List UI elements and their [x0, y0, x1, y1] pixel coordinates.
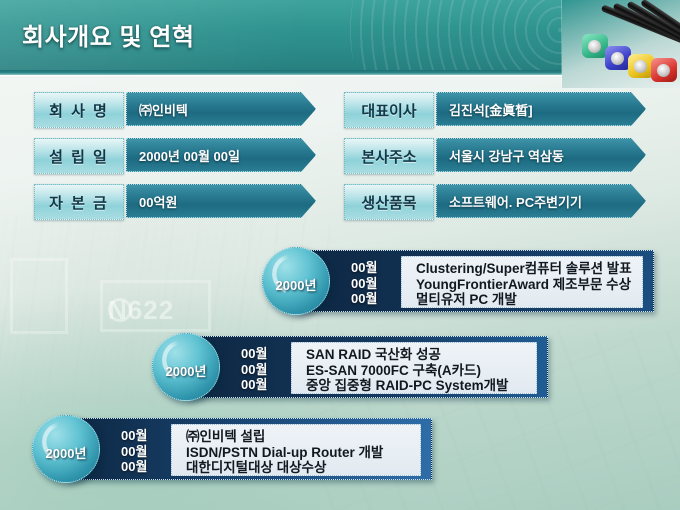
timeline-events: Clustering/Super컴퓨터 솔루션 발표 YoungFrontier…	[401, 256, 643, 308]
timeline-year-badge: 2000년	[262, 247, 330, 315]
timeline-block: 00월 00월 00월 SAN RAID 국산화 성공 ES-SAN 7000F…	[152, 336, 544, 398]
timeline-months: 00월 00월 00월	[351, 260, 377, 307]
timeline-event: 중앙 집중형 RAID-PC System개발	[306, 378, 536, 394]
cable-ring-blue	[611, 52, 624, 65]
info-label-ceo: 대표이사	[344, 92, 434, 128]
timeline-months: 00월 00월 00월	[121, 428, 147, 475]
page-title: 회사개요 및 연혁	[22, 17, 194, 52]
timeline-month: 00월	[121, 459, 147, 475]
timeline-panel: 00월 00월 00월 SAN RAID 국산화 성공 ES-SAN 7000F…	[186, 336, 548, 398]
timeline-year-badge: 2000년	[152, 333, 220, 401]
info-row: 회 사 명 ㈜인비텍 대표이사 김진석[金眞晳]	[34, 92, 646, 126]
info-value-capital: 00억원	[126, 184, 316, 218]
cable-plug-red	[651, 58, 677, 82]
timeline-month: 00월	[241, 377, 267, 393]
timeline-events: SAN RAID 국산화 성공 ES-SAN 7000FC 구축(A카드) 중앙…	[291, 342, 537, 394]
timeline-event: ES-SAN 7000FC 구축(A카드)	[306, 363, 536, 379]
timeline-month: 00월	[121, 444, 147, 460]
watermark-label: N622	[108, 295, 174, 326]
info-label-founded-date: 설 립 일	[34, 138, 124, 174]
timeline-month: 00월	[241, 362, 267, 378]
timeline-event: Clustering/Super컴퓨터 솔루션 발표	[416, 261, 642, 277]
cable-ring-red	[657, 64, 670, 77]
info-label-company-name: 회 사 명	[34, 92, 124, 128]
timeline-panel: 00월 00월 00월 ㈜인비텍 설립 ISDN/PSTN Dial-up Ro…	[66, 418, 432, 480]
timeline-events: ㈜인비텍 설립 ISDN/PSTN Dial-up Router 개발 대한디지…	[171, 424, 421, 476]
timeline-event: YoungFrontierAward 제조부문 수상	[416, 277, 642, 293]
info-value-products: 소프트웨어. PC주변기기	[436, 184, 646, 218]
timeline-event: ㈜인비텍 설립	[186, 429, 420, 445]
company-info-table: 회 사 명 ㈜인비텍 대표이사 김진석[金眞晳] 설 립 일 2000년 00월…	[34, 92, 646, 230]
timeline-panel: 00월 00월 00월 Clustering/Super컴퓨터 솔루션 발표 Y…	[296, 250, 654, 312]
slide-canvas: N622 회사개요 및 연혁 회 사 명 ㈜인비텍 대표이사 김	[0, 0, 680, 510]
info-row: 자 본 금 00억원 생산품목 소프트웨어. PC주변기기	[34, 184, 646, 218]
timeline-event: 대한디지털대상 대상수상	[186, 460, 420, 476]
timeline-event: 멀티유저 PC 개발	[416, 292, 642, 308]
cable-connectors-photo	[561, 0, 680, 88]
cable-ring-green	[588, 40, 601, 53]
cable-ring-yellow	[634, 60, 647, 73]
timeline-block: 00월 00월 00월 Clustering/Super컴퓨터 솔루션 발표 Y…	[262, 250, 654, 312]
timeline-month: 00월	[121, 428, 147, 444]
info-value-ceo: 김진석[金眞晳]	[436, 92, 646, 126]
timeline-event: ISDN/PSTN Dial-up Router 개발	[186, 445, 420, 461]
info-value-head-office: 서울시 강남구 역삼동	[436, 138, 646, 172]
timeline-month: 00월	[351, 276, 377, 292]
timeline-year-label: 2000년	[33, 443, 99, 462]
info-row: 설 립 일 2000년 00월 00일 본사주소 서울시 강남구 역삼동	[34, 138, 646, 172]
timeline-month: 00월	[351, 291, 377, 307]
info-value-company-name: ㈜인비텍	[126, 92, 316, 126]
timeline-months: 00월 00월 00월	[241, 346, 267, 393]
info-label-capital: 자 본 금	[34, 184, 124, 220]
timeline-block: 00월 00월 00월 ㈜인비텍 설립 ISDN/PSTN Dial-up Ro…	[32, 418, 424, 480]
info-label-head-office: 본사주소	[344, 138, 434, 174]
timeline-year-label: 2000년	[263, 275, 329, 294]
timeline-year-badge: 2000년	[32, 415, 100, 483]
timeline-month: 00월	[351, 260, 377, 276]
timeline-event: SAN RAID 국산화 성공	[306, 347, 536, 363]
info-value-founded-date: 2000년 00월 00일	[126, 138, 316, 172]
info-label-products: 생산품목	[344, 184, 434, 220]
watermark-rect-b	[10, 258, 68, 334]
timeline-year-label: 2000년	[153, 361, 219, 380]
timeline-month: 00월	[241, 346, 267, 362]
